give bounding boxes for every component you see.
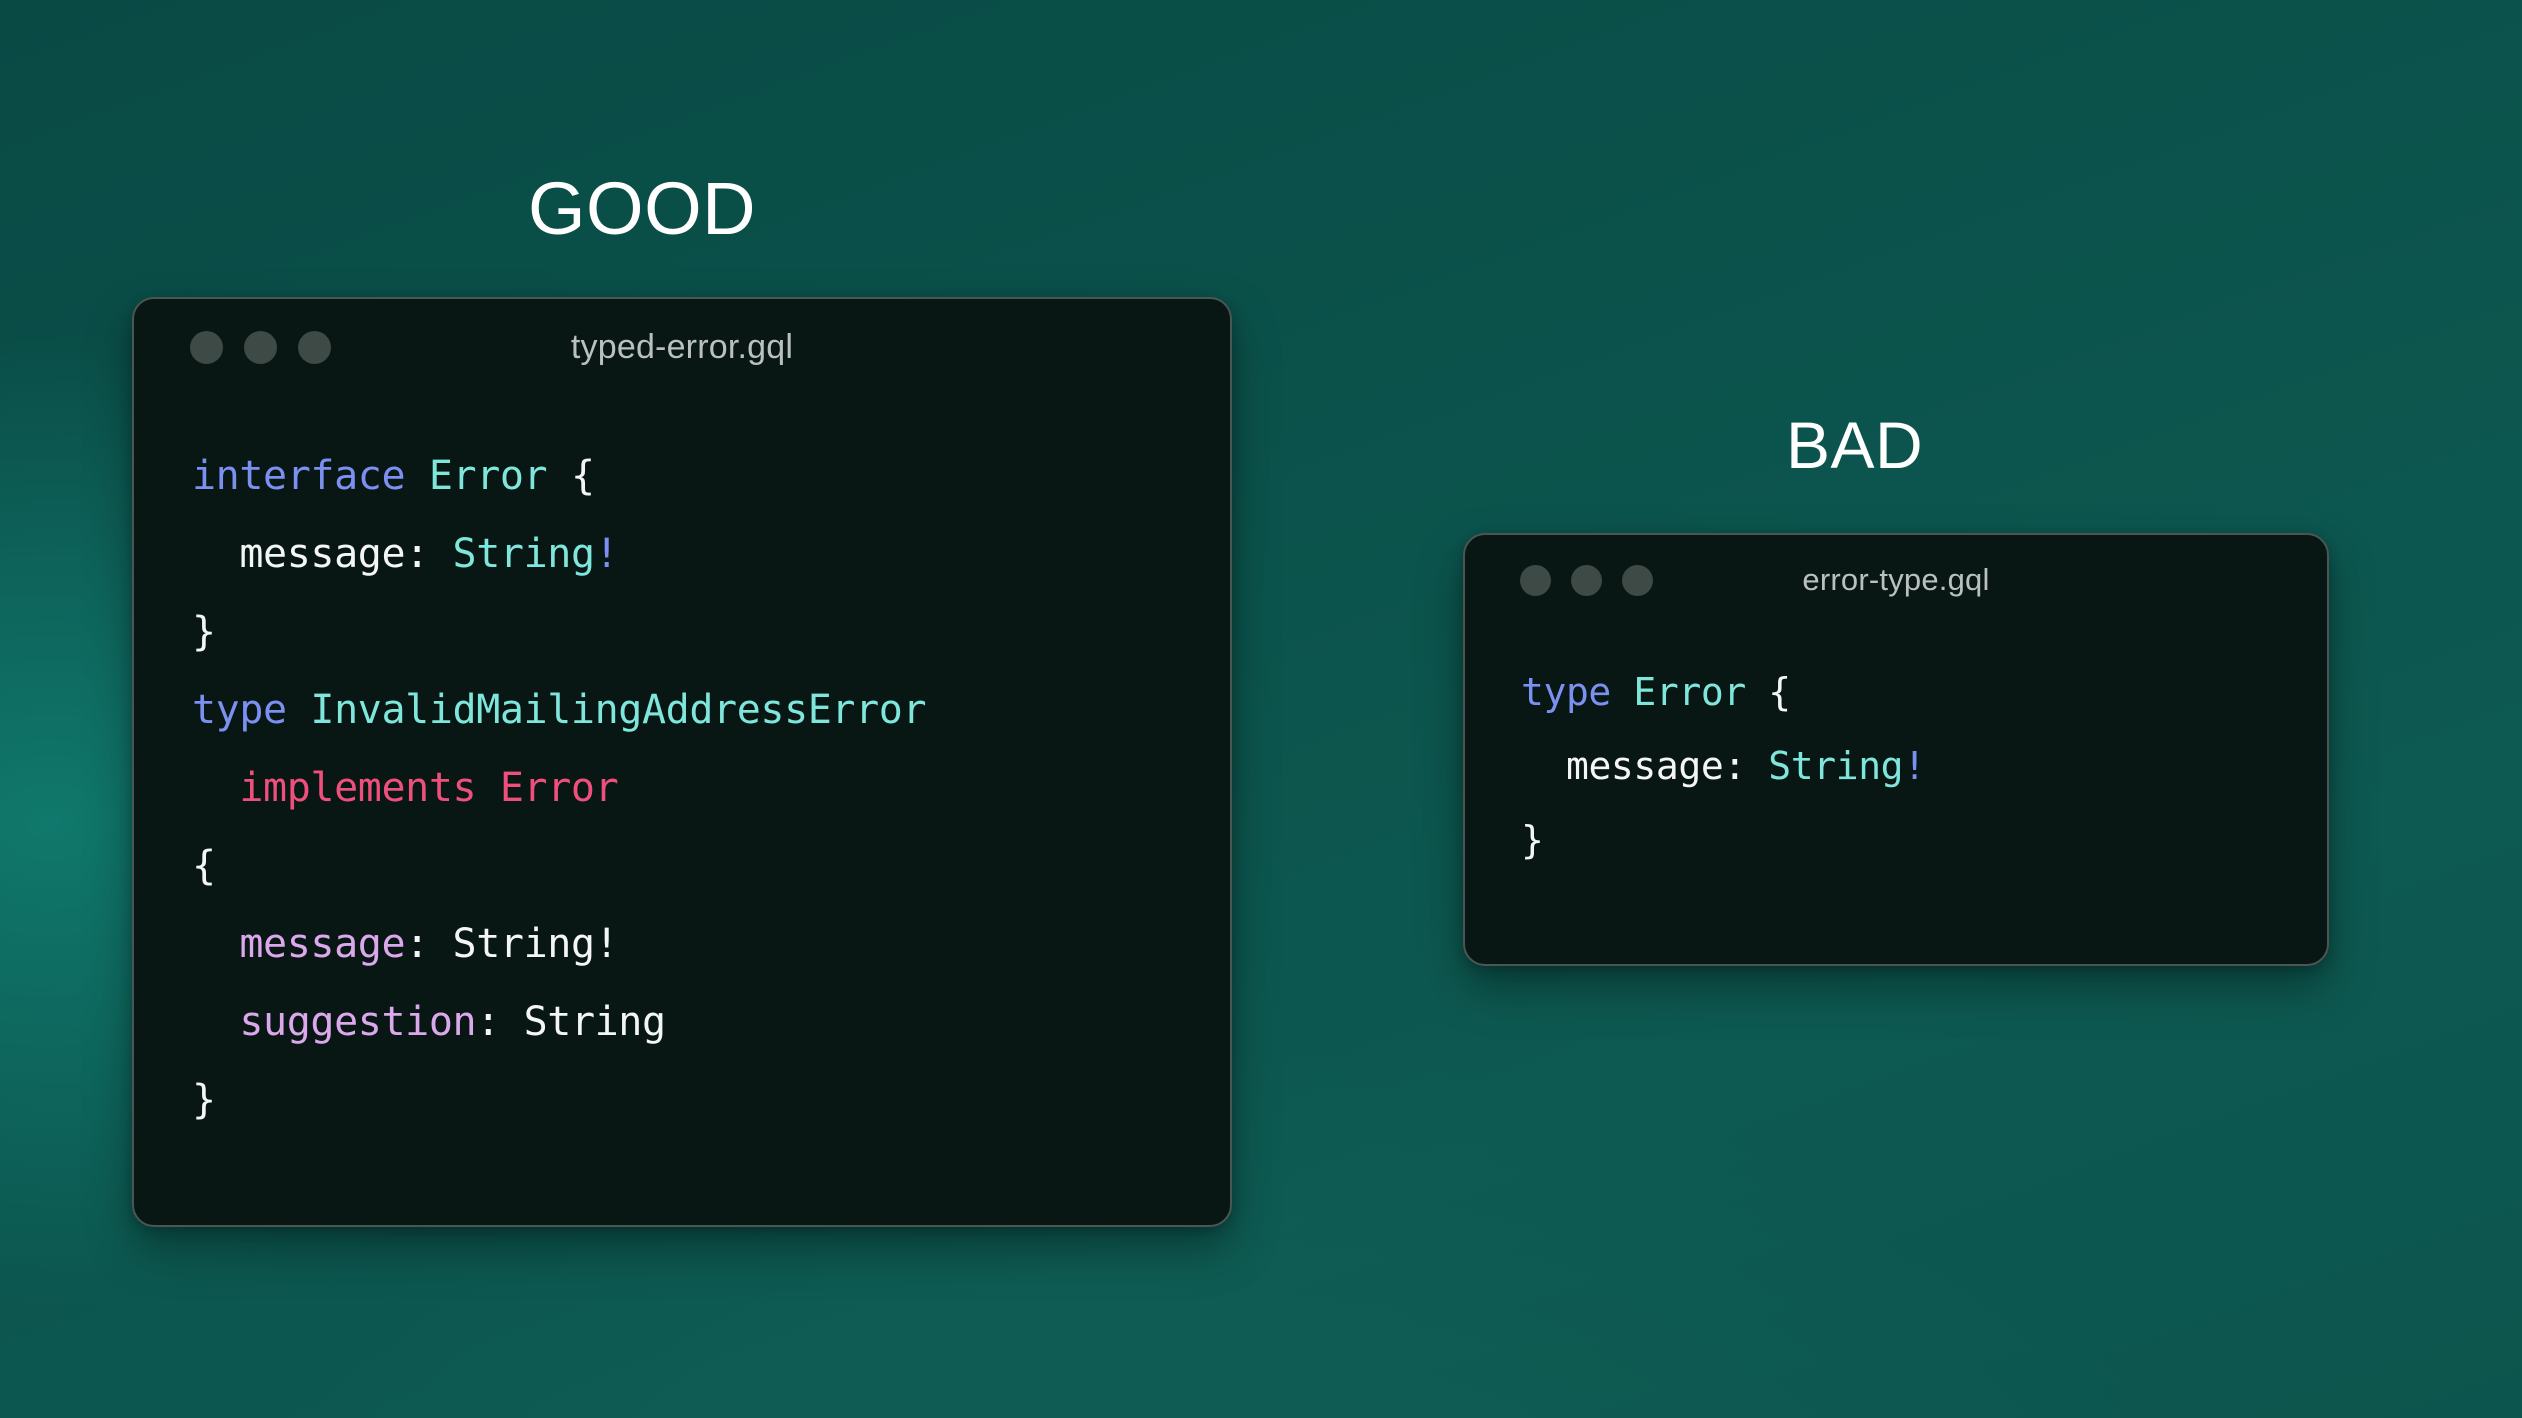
code-line: implements Error: [192, 749, 1230, 827]
code-line: }: [1521, 803, 2327, 877]
minimize-dot-icon[interactable]: [244, 331, 277, 364]
close-dot-icon[interactable]: [190, 331, 223, 364]
code-token-plain: [1611, 670, 1633, 714]
traffic-lights-good: [190, 331, 331, 364]
code-token-keyword: type: [192, 687, 287, 733]
code-token-plain: [192, 999, 239, 1045]
code-line: type Error {: [1521, 655, 2327, 729]
code-token-plain: [1521, 744, 1566, 788]
code-line: interface Error {: [192, 437, 1230, 515]
code-token-plain: [1746, 670, 1768, 714]
window-titlebar-bad: error-type.gql: [1465, 535, 2327, 625]
code-token-bang: !: [595, 531, 619, 577]
code-line: }: [192, 593, 1230, 671]
code-token-plain: String!: [453, 921, 619, 967]
code-token-bang: !: [1903, 744, 1925, 788]
code-token-punct: }: [1521, 818, 1543, 862]
code-token-plain: message: [1566, 744, 1723, 788]
code-line: {: [192, 827, 1230, 905]
code-line: message: String!: [192, 515, 1230, 593]
code-token-plain: [192, 921, 239, 967]
code-token-typename: Error: [429, 453, 547, 499]
code-token-keyword: interface: [192, 453, 405, 499]
code-token-punct: :: [405, 531, 452, 577]
label-bad: BAD: [1786, 412, 1923, 478]
window-titlebar-good: typed-error.gql: [134, 299, 1230, 395]
code-token-plain: String: [524, 999, 666, 1045]
code-token-punct: :: [476, 999, 523, 1045]
code-body-bad[interactable]: type Error { message: String!}: [1465, 625, 2327, 877]
code-token-scalar: String: [453, 531, 595, 577]
code-token-punct: {: [192, 843, 216, 889]
code-line: suggestion: String: [192, 983, 1230, 1061]
code-token-punct: }: [192, 1077, 216, 1123]
code-line: type InvalidMailingAddressError: [192, 671, 1230, 749]
code-line: message: String!: [1521, 729, 2327, 803]
code-token-plain: message: [239, 531, 405, 577]
code-token-field: suggestion: [239, 999, 476, 1045]
code-token-plain: [547, 453, 571, 499]
code-token-punct: }: [192, 609, 216, 655]
code-token-plain: [192, 531, 239, 577]
code-token-plain: [405, 453, 429, 499]
code-window-good: typed-error.gql interface Error { messag…: [132, 297, 1232, 1227]
code-token-punct: :: [405, 921, 452, 967]
code-token-punct: :: [1723, 744, 1768, 788]
code-token-typename: Error: [1633, 670, 1745, 714]
traffic-lights-bad: [1520, 565, 1653, 596]
close-dot-icon[interactable]: [1520, 565, 1551, 596]
code-token-scalar: String: [1768, 744, 1903, 788]
code-token-typename: InvalidMailingAddressError: [310, 687, 926, 733]
maximize-dot-icon[interactable]: [298, 331, 331, 364]
code-token-plain: [192, 765, 239, 811]
code-token-field: message: [239, 921, 405, 967]
code-body-good[interactable]: interface Error { message: String!}type …: [134, 395, 1230, 1139]
code-token-punct: {: [571, 453, 595, 499]
label-good: GOOD: [528, 172, 756, 246]
code-window-bad: error-type.gql type Error { message: Str…: [1463, 533, 2329, 966]
maximize-dot-icon[interactable]: [1622, 565, 1653, 596]
code-token-punct: {: [1768, 670, 1790, 714]
minimize-dot-icon[interactable]: [1571, 565, 1602, 596]
code-token-keyword: type: [1521, 670, 1611, 714]
code-line: message: String!: [192, 905, 1230, 983]
code-token-implements: implements Error: [239, 765, 618, 811]
slide-canvas: GOOD typed-error.gql interface Error { m…: [0, 0, 2522, 1418]
code-line: }: [192, 1061, 1230, 1139]
code-token-plain: [287, 687, 311, 733]
